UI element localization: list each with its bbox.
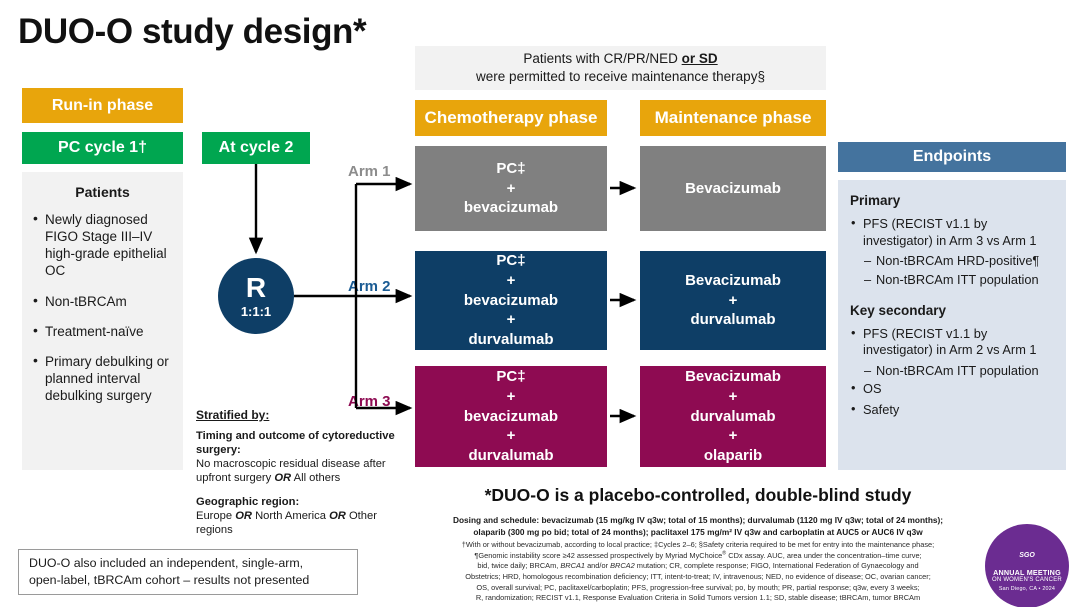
run-in-phase-chip: Run-in phase xyxy=(22,88,183,123)
stratification-region-title: Geographic region: xyxy=(196,495,401,509)
dosing-line-2: olaparib (300 mg po bid; total of 24 mon… xyxy=(398,527,998,539)
stratification-surgery-text: No macroscopic residual disease after up… xyxy=(196,457,401,485)
stratified-by-heading: Stratified by: xyxy=(196,408,401,423)
region-or-1: OR xyxy=(235,510,252,522)
secondary-endpoints-heading: Key secondary xyxy=(850,302,1056,319)
list-item: Treatment-naïve xyxy=(32,323,173,340)
list-item: Non-tBRCAm ITT population xyxy=(850,363,1056,380)
footnote-line-3: bid, twice daily; BRCAm, BRCA1 and/or BR… xyxy=(398,561,998,572)
randomization-ratio: 1:1:1 xyxy=(241,304,271,319)
brca2-italic: BRCA2 xyxy=(610,561,635,570)
list-item: Newly diagnosed FIGO Stage III–IV high-g… xyxy=(32,211,173,280)
footnote-line-3-mid: and/or xyxy=(585,561,610,570)
footnote-line-2: ¶Genomic instability score ≥42 assessed … xyxy=(398,551,998,562)
banner-line-1-text: Patients with CR/PR/NED xyxy=(523,51,681,66)
secondary-endpoints-list: PFS (RECIST v1.1 by investigator) in Arm… xyxy=(850,326,1056,419)
list-item: PFS (RECIST v1.1 by investigator) in Arm… xyxy=(850,216,1056,249)
brca1-italic: BRCA1 xyxy=(560,561,585,570)
primary-endpoints-heading: Primary xyxy=(850,192,1056,209)
patients-criteria-list: Newly diagnosed FIGO Stage III–IV high-g… xyxy=(32,211,173,404)
note-line-1: DUO-O also included an independent, sing… xyxy=(29,555,303,572)
arm-2-label: Arm 2 xyxy=(348,278,391,295)
footnote-line-1: †With or without bevacizumab, according … xyxy=(398,540,998,551)
footnote-line-3-pre: bid, twice daily; BRCAm, xyxy=(477,561,560,570)
endpoints-header: Endpoints xyxy=(838,142,1066,172)
randomization-node: R 1:1:1 xyxy=(218,258,294,334)
arm-1-maintenance-box: Bevacizumab xyxy=(640,146,826,231)
stratification-group-surgery: Timing and outcome of cytoreductive surg… xyxy=(196,429,401,485)
randomization-letter: R xyxy=(246,274,266,302)
stratification-group-region: Geographic region: Europe OR North Ameri… xyxy=(196,495,401,537)
list-item: PFS (RECIST v1.1 by investigator) in Arm… xyxy=(850,326,1056,359)
at-cycle-2-chip: At cycle 2 xyxy=(202,132,310,164)
slide-canvas: DUO-O study design* Patients with CR/PR/… xyxy=(0,0,1080,610)
logo-line-1: ANNUAL MEETING xyxy=(980,568,1074,577)
study-design-headline: *DUO-O is a placebo-controlled, double-b… xyxy=(398,485,998,506)
footnote-line-2-post: CDx assay. AUC, area under the concentra… xyxy=(726,551,921,560)
sgo-logo: SGO ANNUAL MEETING ON WOMEN'S CANCER San… xyxy=(980,521,1074,607)
footnote-line-4: Obstetrics; HRD, homologous recombinatio… xyxy=(398,572,998,583)
patients-panel: Patients Newly diagnosed FIGO Stage III–… xyxy=(22,172,183,470)
stratification-region-text: Europe OR North America OR Other regions xyxy=(196,509,401,537)
arm-1-label: Arm 1 xyxy=(348,163,391,180)
list-item: OS xyxy=(850,381,1056,398)
note-line-2: open-label, tBRCAm cohort – results not … xyxy=(29,572,309,589)
logo-mark-text: SGO xyxy=(980,552,1074,559)
stratification-surgery-title: Timing and outcome of cytoreductive surg… xyxy=(196,429,401,457)
maintenance-eligibility-banner: Patients with CR/PR/NED or SD were permi… xyxy=(415,46,826,90)
arm-3-maintenance-box: Bevacizumab+durvalumab+olaparib xyxy=(640,366,826,467)
arm-2-maintenance-box: Bevacizumab+durvalumab xyxy=(640,251,826,350)
maintenance-phase-header: Maintenance phase xyxy=(640,100,826,136)
logo-line-3: San Diego, CA • 2024 xyxy=(980,586,1074,592)
logo-line-2: ON WOMEN'S CANCER xyxy=(980,577,1074,583)
list-item: Safety xyxy=(850,402,1056,419)
logo-disc xyxy=(985,524,1069,607)
arm-3-label: Arm 3 xyxy=(348,393,391,410)
endpoints-panel: Primary PFS (RECIST v1.1 by investigator… xyxy=(838,180,1066,470)
arm-3-chemotherapy-box: PC‡+bevacizumab+durvalumab xyxy=(415,366,607,467)
list-item: Primary debulking or planned interval de… xyxy=(32,353,173,404)
dosing-footnote: Dosing and schedule: bevacizumab (15 mg/… xyxy=(398,515,998,539)
surgery-text-b: All others xyxy=(291,472,340,484)
abbreviations-footnote: †With or without bevacizumab, according … xyxy=(398,540,998,604)
region-or-2: OR xyxy=(329,510,346,522)
page-title: DUO-O study design* xyxy=(18,12,366,52)
chemotherapy-phase-header: Chemotherapy phase xyxy=(415,100,607,136)
surgery-or: OR xyxy=(274,472,291,484)
footnote-line-6: R, randomization; RECIST v1.1, Response … xyxy=(398,593,998,604)
list-item: Non-tBRCAm xyxy=(32,293,173,310)
patients-heading: Patients xyxy=(32,184,173,200)
list-item: Non-tBRCAm HRD-positive¶ xyxy=(850,253,1056,270)
arm-1-chemotherapy-box: PC‡+bevacizumab xyxy=(415,146,607,231)
footnote-line-5: OS, overall survival; PC, paclitaxel/car… xyxy=(398,583,998,594)
banner-line-1: Patients with CR/PR/NED or SD xyxy=(523,50,717,68)
primary-endpoints-list: PFS (RECIST v1.1 by investigator) in Arm… xyxy=(850,216,1056,288)
region-text-a: Europe xyxy=(196,510,235,522)
pc-cycle-1-chip: PC cycle 1† xyxy=(22,132,183,164)
region-text-b: North America xyxy=(252,510,329,522)
list-item: Non-tBRCAm ITT population xyxy=(850,272,1056,289)
footnote-line-2-pre: ¶Genomic instability score ≥42 assessed … xyxy=(474,551,722,560)
banner-line-2: were permitted to receive maintenance th… xyxy=(476,68,765,86)
tbrcam-cohort-note: DUO-O also included an independent, sing… xyxy=(18,549,358,595)
banner-or-sd: or SD xyxy=(682,51,718,66)
stratification-block: Stratified by: Timing and outcome of cyt… xyxy=(196,408,401,546)
arm-2-chemotherapy-box: PC‡+bevacizumab+durvalumab xyxy=(415,251,607,350)
dosing-line-1: Dosing and schedule: bevacizumab (15 mg/… xyxy=(398,515,998,527)
footnote-line-3-post: mutation; CR, complete response; FIGO, I… xyxy=(635,561,919,570)
